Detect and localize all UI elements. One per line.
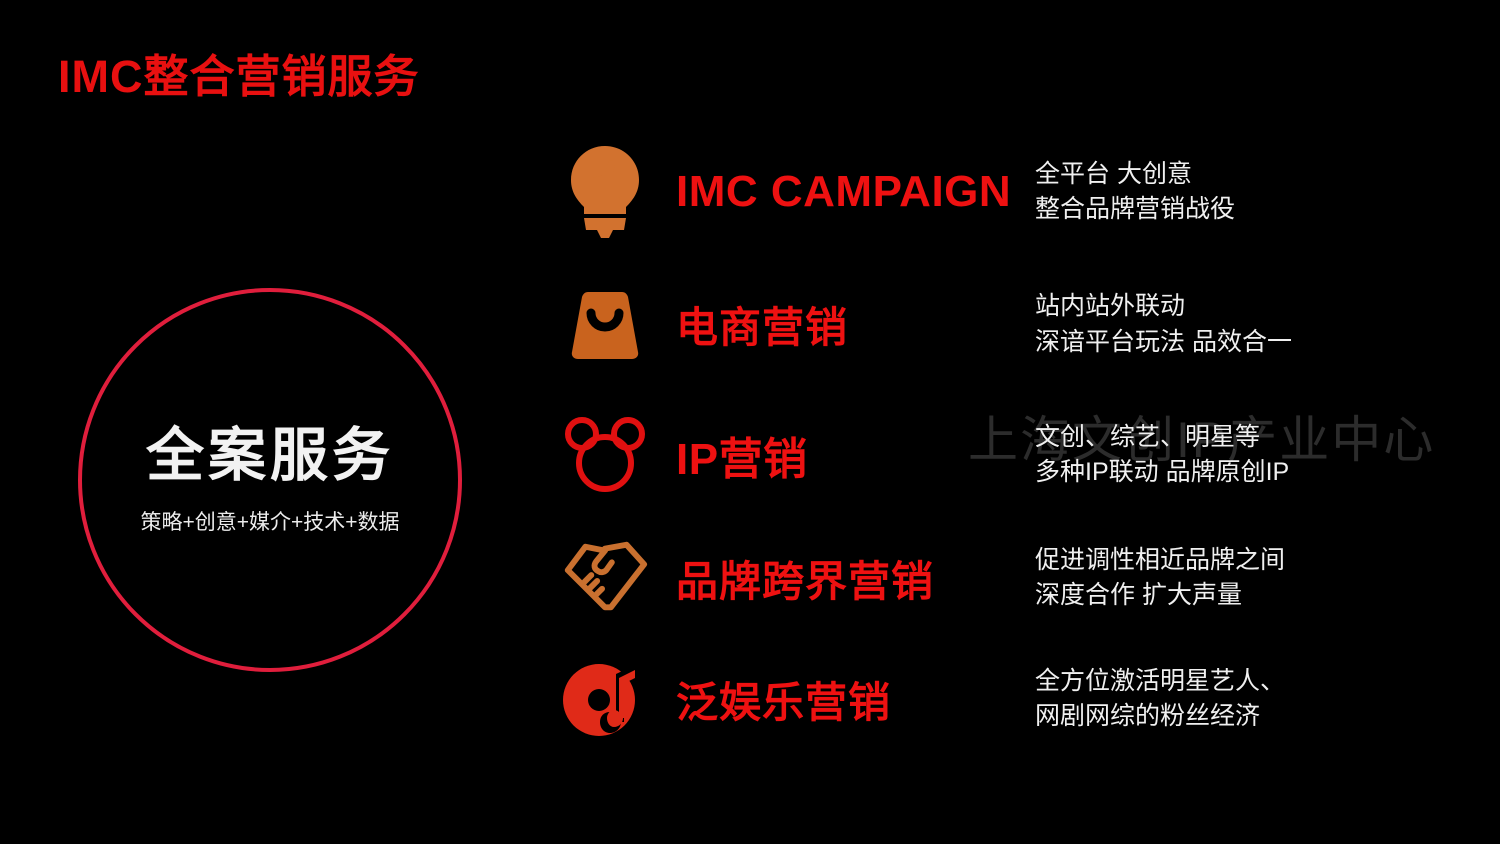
service-row: 品牌跨界营销 促进调性相近品牌之间 深度合作 扩大声量 [560,517,1490,639]
service-description: 全方位激活明星艺人、 网剧网综的粉丝经济 [1035,664,1285,735]
circle-main-label: 全案服务 [146,424,394,488]
service-desc-line-1: 站内站外联动 [1035,289,1292,325]
mickey-head-icon [560,408,650,503]
service-title: 电商营销 [650,294,1035,355]
service-row: 泛娱乐营销 全方位激活明星艺人、 网剧网综的粉丝经济 [560,639,1490,759]
service-desc-line-1: 促进调性相近品牌之间 [1035,543,1285,579]
handshake-icon [560,531,650,626]
service-description: 促进调性相近品牌之间 深度合作 扩大声量 [1035,543,1285,614]
service-desc-line-2: 整合品牌营销战役 [1035,192,1235,228]
circle-sub-label: 策略+创意+媒介+技术+数据 [140,506,399,536]
service-row: 电商营销 站内站外联动 深谙平台玩法 品效合一 [560,256,1490,393]
service-row: IP营销 文创、综艺、明星等 多种IP联动 品牌原创IP [560,393,1490,517]
vinyl-music-note-icon [560,652,650,747]
service-desc-line-1: 全平台 大创意 [1035,157,1235,193]
service-desc-line-2: 深度合作 扩大声量 [1035,578,1285,614]
slide-canvas: 上海文创IP产业中心 IMC整合营销服务 全案服务 策略+创意+媒介+技术+数据… [0,0,1500,844]
service-title: 品牌跨界营销 [650,548,1035,609]
shopping-bag-icon [560,277,650,372]
service-title: 泛娱乐营销 [650,669,1035,730]
service-description: 全平台 大创意 整合品牌营销战役 [1035,157,1235,228]
all-in-one-service-circle: 全案服务 策略+创意+媒介+技术+数据 [78,288,462,672]
service-desc-line-1: 文创、综艺、明星等 [1035,420,1289,456]
service-desc-line-2: 多种IP联动 品牌原创IP [1035,455,1289,491]
lightbulb-thumbsup-icon [560,145,650,240]
page-title: IMC整合营销服务 [58,40,420,105]
service-desc-line-1: 全方位激活明星艺人、 [1035,664,1285,700]
service-list: IMC CAMPAIGN 全平台 大创意 整合品牌营销战役 电商营销 站内站外联… [560,128,1490,759]
service-description: 站内站外联动 深谙平台玩法 品效合一 [1035,289,1292,360]
service-title: IP营销 [650,423,1035,487]
service-title: IMC CAMPAIGN [650,167,1035,217]
service-description: 文创、综艺、明星等 多种IP联动 品牌原创IP [1035,420,1289,491]
service-row: IMC CAMPAIGN 全平台 大创意 整合品牌营销战役 [560,128,1490,256]
service-desc-line-2: 深谙平台玩法 品效合一 [1035,325,1292,361]
service-desc-line-2: 网剧网综的粉丝经济 [1035,699,1285,735]
